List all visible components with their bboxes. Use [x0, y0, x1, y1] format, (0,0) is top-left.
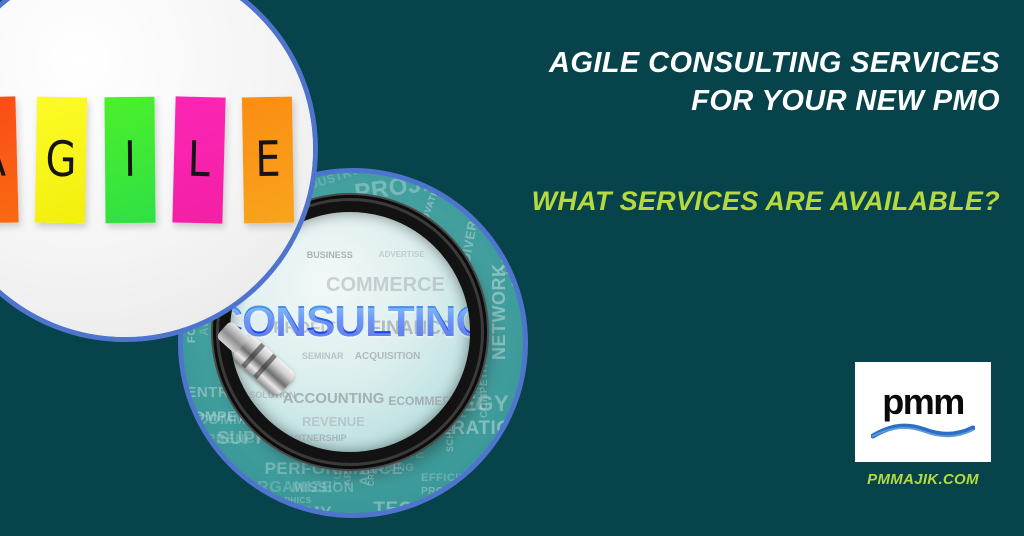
sticky-note-letter: E: [255, 135, 281, 184]
promo-banner: A G I L E INDUSTRYRECESSIONPROJECTBRAINS…: [0, 0, 1024, 536]
sticky-note-letter: I: [124, 136, 136, 185]
sticky-note-g: G: [35, 97, 87, 224]
lens-word: ADVERTISE: [379, 250, 425, 259]
lens-word: ACQUISITION: [355, 351, 421, 362]
subheadline: WHAT SERVICES ARE AVAILABLE?: [500, 186, 1000, 217]
cloud-word: PROJECT: [353, 168, 473, 208]
cloud-word: PROSPERITY: [421, 486, 490, 497]
cloud-word: NETWORK: [489, 264, 510, 361]
lens-word: PARTNERSHIP: [283, 433, 347, 443]
headline-line-1: AGILE CONSULTING SERVICES: [530, 44, 1000, 82]
logo-wordmark: pmm: [882, 384, 964, 420]
sticky-note-letter: L: [187, 135, 211, 184]
sticky-note-e: E: [242, 97, 294, 224]
sticky-note-l: L: [172, 96, 225, 223]
lens-word: BUSINESS: [307, 250, 353, 260]
lens-word: SEMINAR: [302, 351, 344, 361]
brand-logo-block[interactable]: pmm PMMAJIK.COM: [855, 362, 991, 488]
cloud-word: ECONOMY: [241, 503, 332, 518]
sticky-notes-group: A G I L E: [0, 97, 293, 247]
headline-block: AGILE CONSULTING SERVICES FOR YOUR NEW P…: [530, 44, 1000, 121]
sticky-note-i: I: [104, 97, 155, 223]
lens-word: ECOMMERCE: [388, 394, 467, 408]
logo-card: pmm: [855, 362, 991, 462]
cloud-word: EFFICIENCY: [421, 472, 491, 484]
headline-line-2: FOR YOUR NEW PMO: [530, 82, 1000, 120]
sticky-note-letter: A: [0, 135, 6, 184]
sticky-note-a: A: [0, 96, 19, 223]
lens-word: COMMERCE: [326, 274, 445, 297]
logo-wave-icon: [871, 422, 975, 447]
website-url[interactable]: PMMAJIK.COM: [855, 471, 991, 488]
cloud-word: AGENCY: [509, 234, 523, 288]
sticky-note-letter: G: [45, 135, 77, 184]
agile-photo-circle: A G I L E: [0, 0, 318, 342]
cloud-word: DIVERSIFY: [458, 189, 485, 264]
cloud-word: TECHNOLOGY: [373, 499, 512, 518]
lens-word: REVENUE: [302, 414, 365, 429]
lens-word: ACCOUNTING: [283, 390, 385, 407]
